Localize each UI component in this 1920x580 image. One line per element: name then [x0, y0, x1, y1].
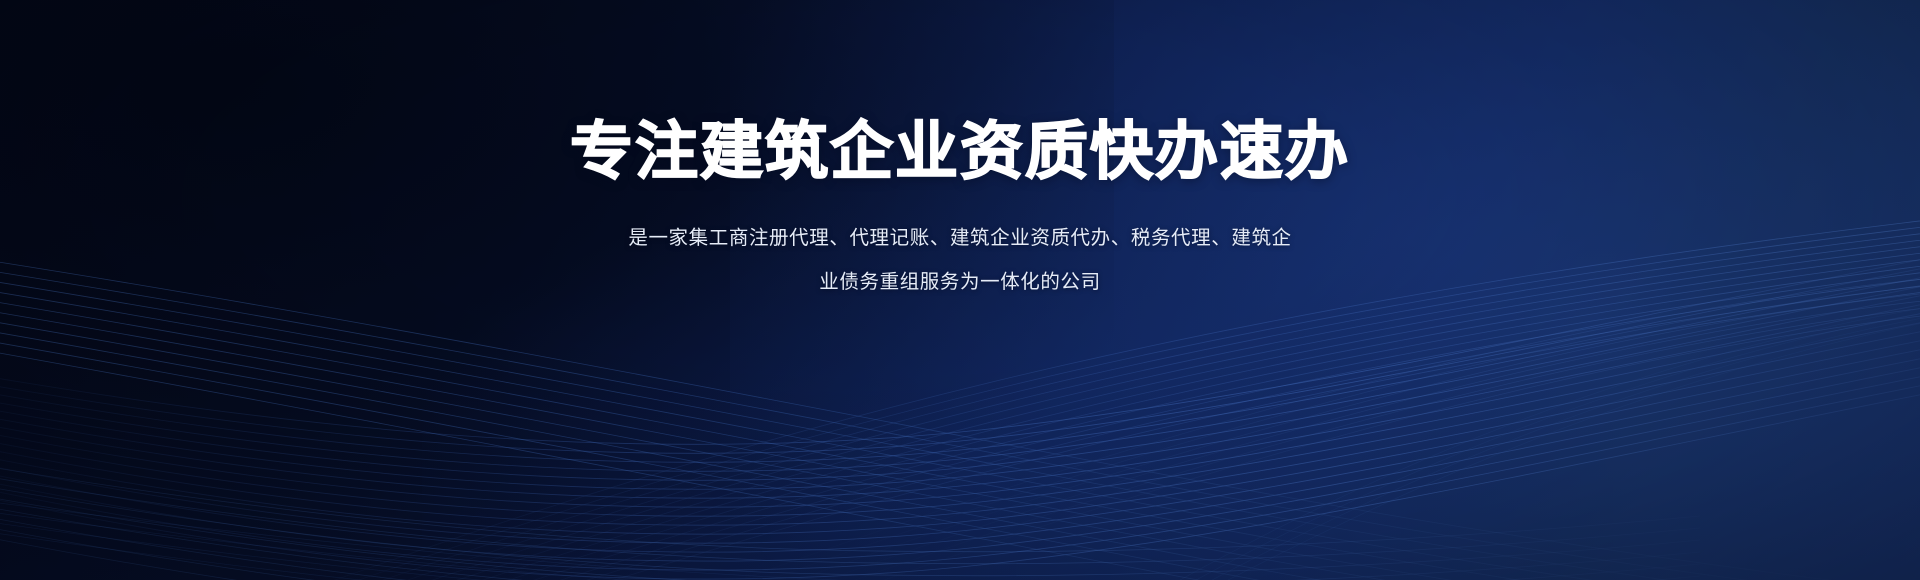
hero-banner: 专注建筑企业资质快办速办 是一家集工商注册代理、代理记账、建筑企业资质代办、税务…: [0, 0, 1920, 580]
banner-content: 专注建筑企业资质快办速办 是一家集工商注册代理、代理记账、建筑企业资质代办、税务…: [0, 0, 1920, 580]
banner-subtitle-line-2: 业债务重组服务为一体化的公司: [590, 260, 1330, 304]
banner-subtitle-line-1: 是一家集工商注册代理、代理记账、建筑企业资质代办、税务代理、建筑企: [590, 216, 1330, 260]
banner-subtitle: 是一家集工商注册代理、代理记账、建筑企业资质代办、税务代理、建筑企 业债务重组服…: [590, 186, 1330, 305]
banner-headline: 专注建筑企业资质快办速办: [570, 118, 1350, 186]
